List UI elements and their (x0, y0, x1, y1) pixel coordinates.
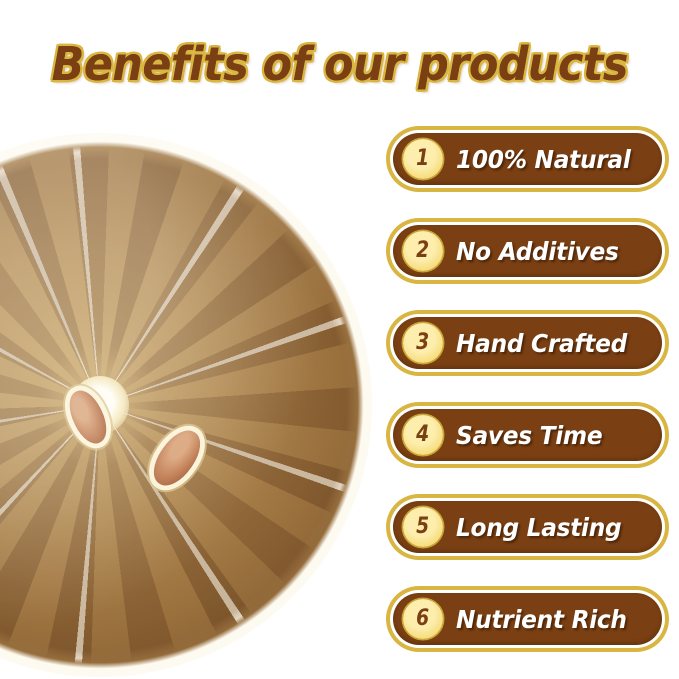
benefit-text: Nutrient Rich (456, 605, 627, 634)
benefit-text: Hand Crafted (456, 329, 627, 358)
lemon-flesh-texture (0, 133, 372, 677)
benefit-body: 2 No Additives (393, 225, 662, 277)
benefit-text: No Additives (456, 237, 619, 266)
benefit-number-badge: 4 (403, 415, 443, 455)
page-title: Benefits of our products (51, 41, 627, 87)
benefit-number-badge: 3 (403, 323, 443, 363)
benefit-ring-gap: 3 Hand Crafted (390, 314, 665, 372)
benefit-item-1[interactable]: 1 100% Natural (386, 126, 669, 192)
benefit-item-2[interactable]: 2 No Additives (386, 218, 669, 284)
benefit-number-badge: 6 (403, 599, 443, 639)
benefit-body: 1 100% Natural (393, 133, 662, 185)
benefit-item-4[interactable]: 4 Saves Time (386, 402, 669, 468)
benefit-item-3[interactable]: 3 Hand Crafted (386, 310, 669, 376)
benefit-ring-gap: 2 No Additives (390, 222, 665, 280)
benefit-number-label: 2 (416, 240, 429, 262)
benefit-number-badge: 5 (403, 507, 443, 547)
benefit-body: 5 Long Lasting (393, 501, 662, 553)
benefit-ring-gap: 4 Saves Time (390, 406, 665, 464)
benefit-text: Saves Time (456, 421, 602, 450)
benefit-number-label: 6 (416, 608, 429, 630)
benefit-number-label: 3 (416, 332, 429, 354)
benefit-ring-gap: 6 Nutrient Rich (390, 590, 665, 648)
benefit-body: 3 Hand Crafted (393, 317, 662, 369)
benefit-ring-gap: 5 Long Lasting (390, 498, 665, 556)
dried-lemon-slice-image (0, 133, 372, 677)
benefit-number-label: 1 (416, 148, 429, 170)
benefits-list: 1 100% Natural 2 No Additives 3 Hand Cra… (386, 126, 669, 652)
title-bar: Benefits of our products (0, 33, 679, 95)
benefit-number-label: 4 (416, 424, 429, 446)
benefit-item-5[interactable]: 5 Long Lasting (386, 494, 669, 560)
benefit-body: 6 Nutrient Rich (393, 593, 662, 645)
benefit-text: Long Lasting (456, 513, 621, 542)
benefit-number-label: 5 (416, 516, 429, 538)
benefit-item-6[interactable]: 6 Nutrient Rich (386, 586, 669, 652)
benefit-ring-gap: 1 100% Natural (390, 130, 665, 188)
benefit-number-badge: 2 (403, 231, 443, 271)
benefit-text: 100% Natural (456, 145, 631, 174)
benefit-number-badge: 1 (403, 139, 443, 179)
benefit-body: 4 Saves Time (393, 409, 662, 461)
